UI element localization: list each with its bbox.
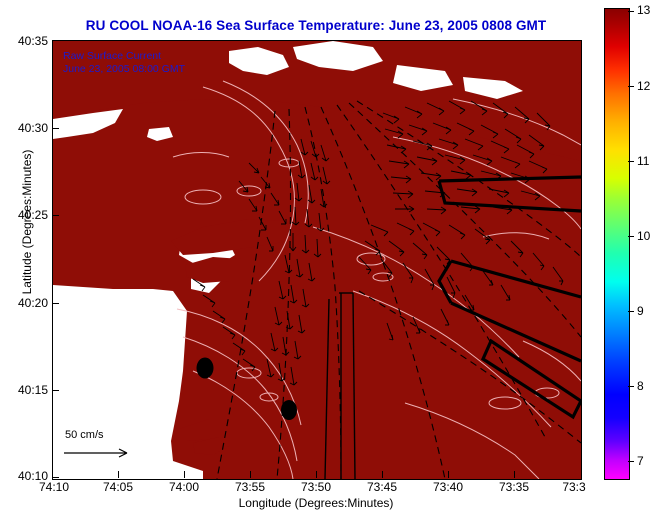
y-tick-label: 40:10 (18, 469, 48, 483)
x-axis-label: Longitude (Degrees:Minutes) (52, 496, 580, 510)
y-tick (52, 390, 59, 391)
colorbar-tick-label: 10 (637, 229, 650, 243)
y-tick (52, 303, 59, 304)
sst-map-graphic (53, 41, 581, 479)
x-tick-label: 73:55 (235, 480, 265, 494)
y-tick-label: 40:15 (18, 383, 48, 397)
colorbar-tick (628, 386, 634, 387)
y-axis-label: Latitude (Degrees:Minutes) (20, 107, 34, 337)
velocity-scale-key: 50 cm/s (61, 429, 139, 464)
colorbar-tick-label: 8 (637, 379, 644, 393)
x-tick-label: 73:45 (367, 480, 397, 494)
x-tick-label: 73:40 (433, 480, 463, 494)
colorbar-tick-label: 12 (637, 79, 650, 93)
y-tick (52, 128, 59, 129)
y-tick (52, 215, 59, 216)
x-tick-label: 74:05 (103, 480, 133, 494)
colorbar-tick-label: 11 (637, 154, 649, 168)
annotation-line-1: Raw Surface Current (63, 50, 185, 63)
colorbar-tick (628, 236, 634, 237)
x-tick (514, 471, 515, 478)
map-annotation: Raw Surface Current June 23, 2005 08:00 … (63, 50, 185, 76)
colorbar-tick (628, 461, 634, 462)
colorbar-tick (628, 311, 634, 312)
station-marker-1 (197, 358, 214, 379)
x-tick (184, 471, 185, 478)
y-tick-label: 40:35 (18, 34, 48, 48)
station-marker-2 (281, 400, 297, 420)
y-tick (52, 40, 59, 41)
x-tick (118, 471, 119, 478)
velocity-scale-arrow-icon (61, 441, 139, 461)
chart-title: RU COOL NOAA-16 Sea Surface Temperature:… (52, 18, 580, 33)
figure-canvas: RU COOL NOAA-16 Sea Surface Temperature:… (0, 0, 651, 515)
velocity-scale-label: 50 cm/s (65, 429, 139, 441)
y-tick (52, 477, 59, 478)
colorbar-tick (628, 11, 634, 12)
colorbar-tick-label: 9 (637, 304, 644, 318)
x-tick-label: 74:00 (169, 480, 199, 494)
x-tick (448, 471, 449, 478)
x-tick-label: 73:35 (499, 480, 529, 494)
colorbar-tick-label: 7 (637, 454, 644, 468)
x-tick-label: 73:3 (562, 480, 585, 494)
colorbar[interactable] (604, 8, 630, 480)
annotation-line-2: June 23, 2005 08:00 GMT (63, 63, 185, 76)
map-plot-area[interactable]: Raw Surface Current June 23, 2005 08:00 … (52, 40, 582, 480)
colorbar-tick (628, 161, 634, 162)
x-tick (382, 471, 383, 478)
x-tick (250, 471, 251, 478)
x-tick-label: 73:50 (301, 480, 331, 494)
colorbar-tick-label: 13 (637, 3, 650, 17)
x-tick (316, 471, 317, 478)
colorbar-tick (628, 86, 634, 87)
